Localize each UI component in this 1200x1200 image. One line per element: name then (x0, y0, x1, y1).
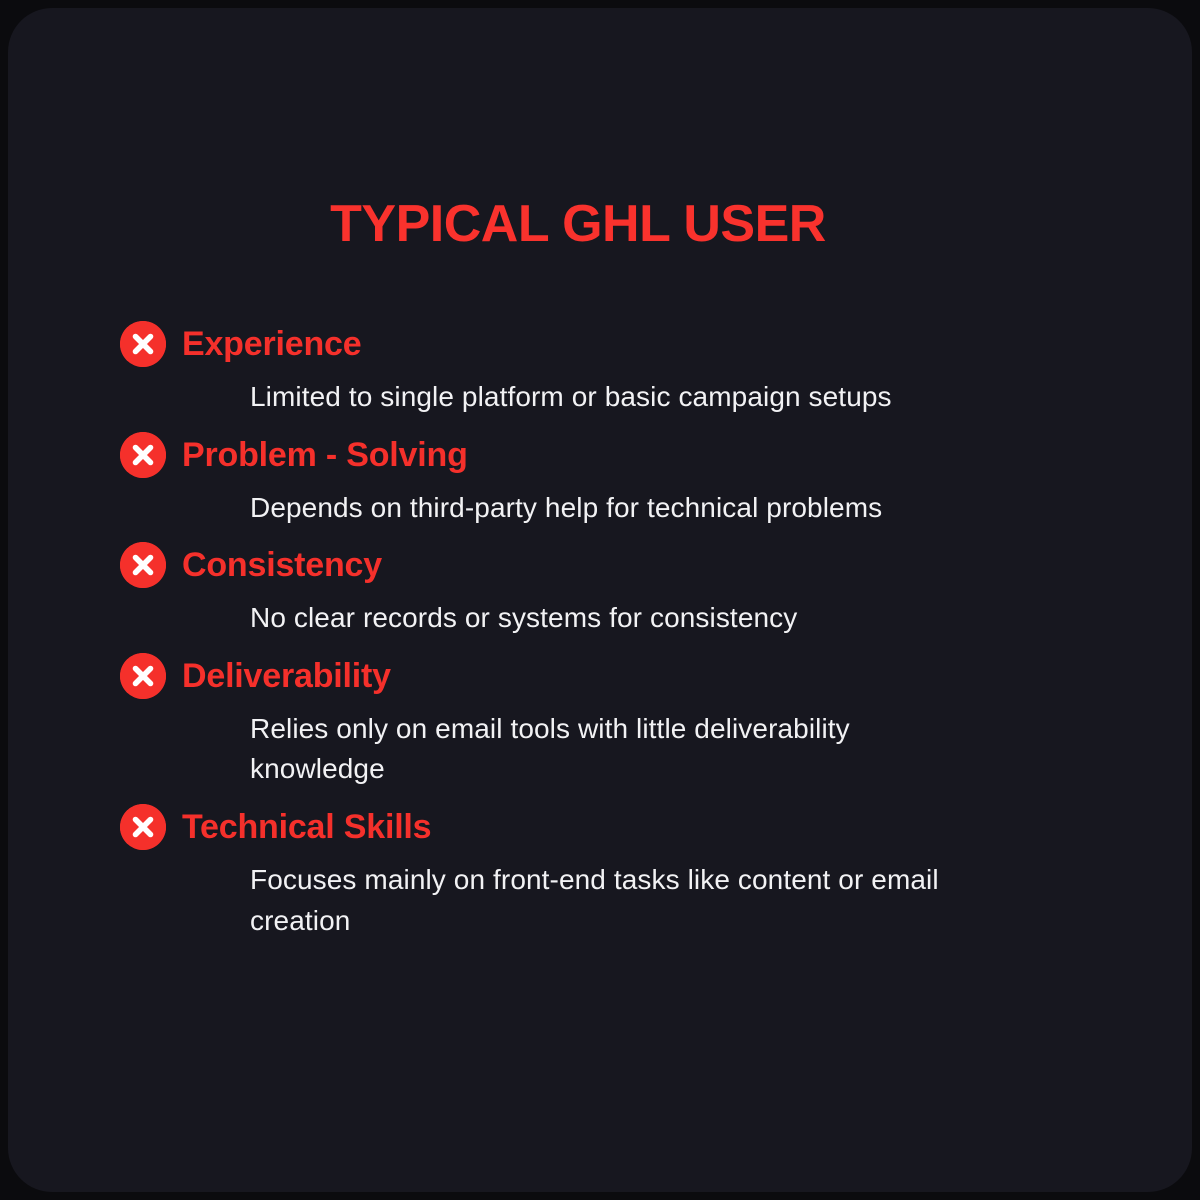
list-item-header: Problem - Solving (120, 424, 1080, 486)
list-item: Technical Skills Focuses mainly on front… (120, 796, 1080, 941)
circle-x-icon (120, 542, 166, 588)
attribute-list: Experience Limited to single platform or… (120, 313, 1080, 941)
typical-ghl-user-card: TYPICAL GHL USER Experience Limited to s… (8, 8, 1192, 1192)
list-item-header: Deliverability (120, 645, 1080, 707)
list-item-title: Technical Skills (182, 810, 431, 844)
page-title: TYPICAL GHL USER (8, 194, 1148, 254)
list-item: Consistency No clear records or systems … (120, 534, 1080, 639)
circle-x-icon (120, 321, 166, 367)
list-item-title: Problem - Solving (182, 438, 468, 472)
list-item-description: Relies only on email tools with little d… (250, 709, 980, 790)
list-item-description: No clear records or systems for consiste… (250, 598, 970, 639)
list-item-title: Deliverability (182, 659, 391, 693)
list-item-description: Depends on third-party help for technica… (250, 488, 970, 529)
list-item-title: Experience (182, 327, 361, 361)
list-item: Deliverability Relies only on email tool… (120, 645, 1080, 790)
list-item-header: Experience (120, 313, 1080, 375)
list-item: Experience Limited to single platform or… (120, 313, 1080, 418)
list-item-description: Focuses mainly on front-end tasks like c… (250, 860, 980, 941)
list-item-header: Consistency (120, 534, 1080, 596)
list-item-header: Technical Skills (120, 796, 1080, 858)
circle-x-icon (120, 432, 166, 478)
list-item-description: Limited to single platform or basic camp… (250, 377, 970, 418)
circle-x-icon (120, 653, 166, 699)
list-item-title: Consistency (182, 548, 382, 582)
circle-x-icon (120, 804, 166, 850)
list-item: Problem - Solving Depends on third-party… (120, 424, 1080, 529)
